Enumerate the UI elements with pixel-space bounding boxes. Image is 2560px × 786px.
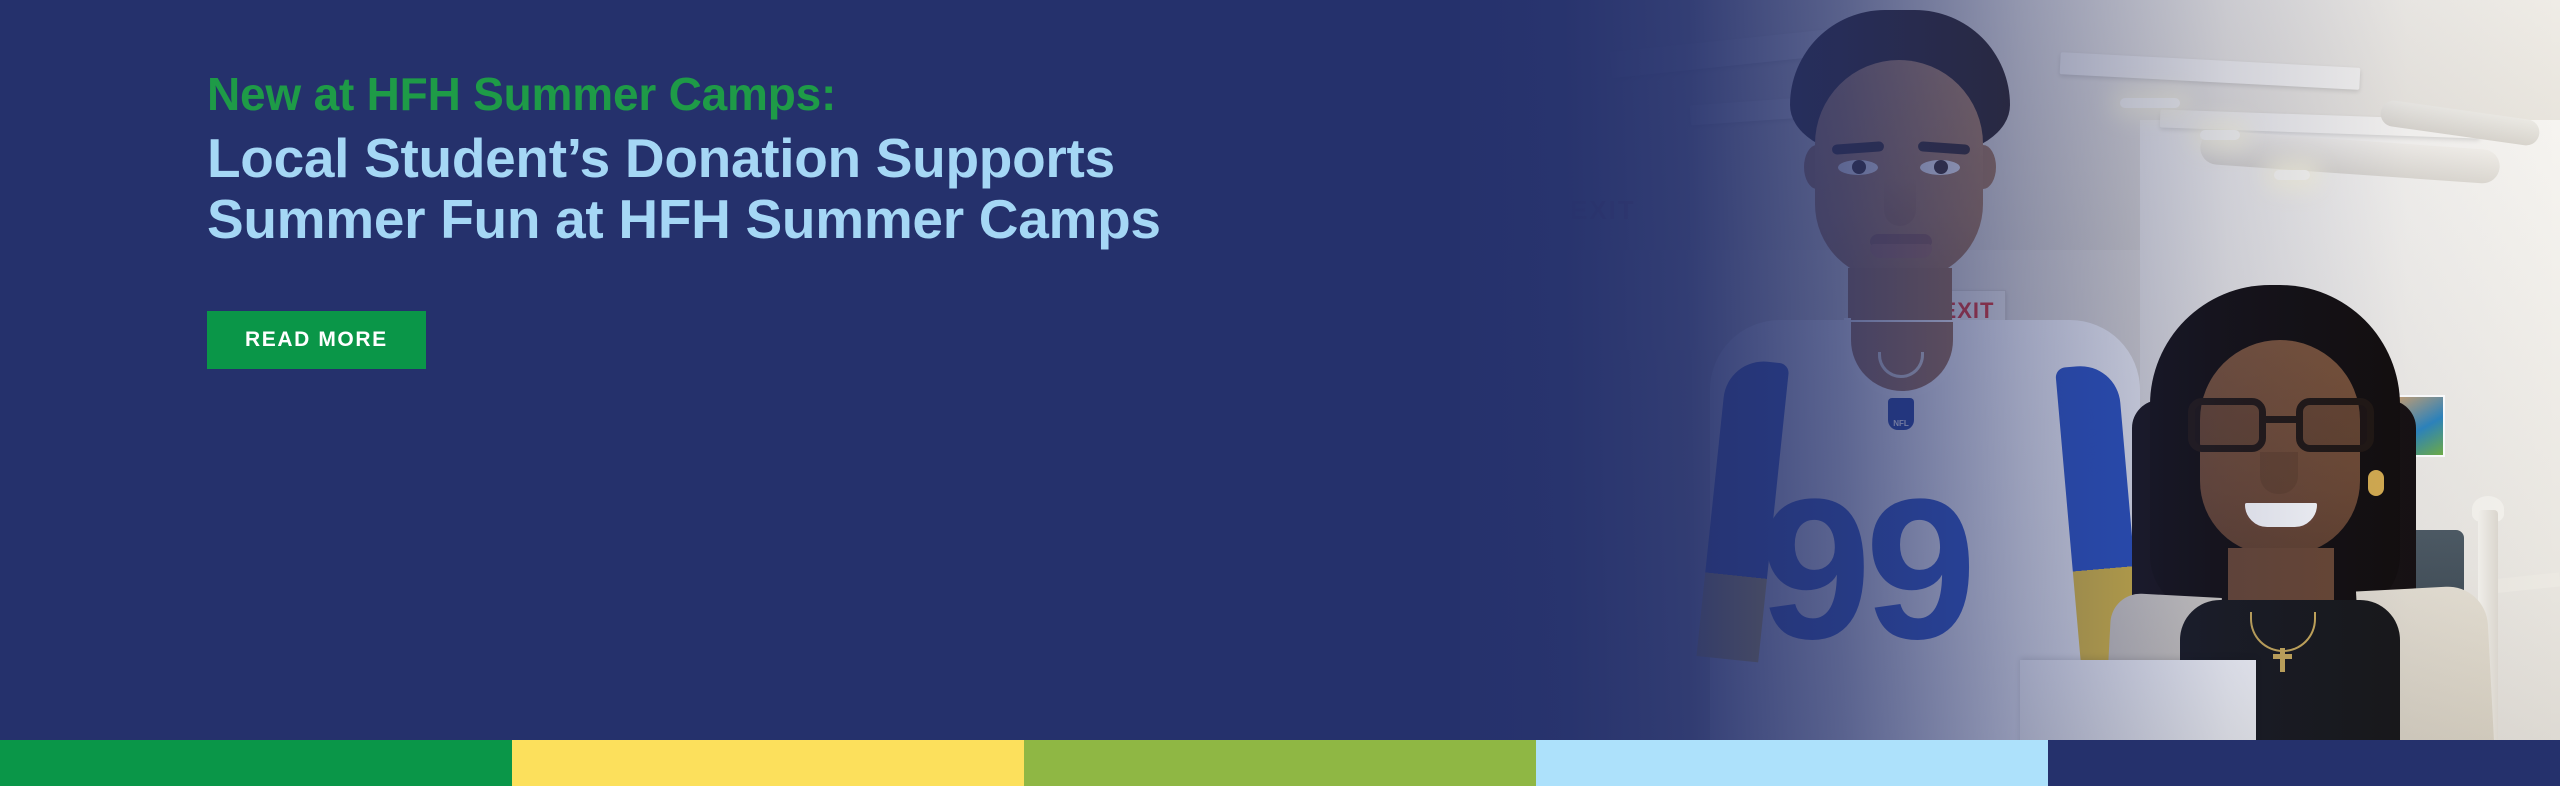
page-title: Local Student’s Donation Supports Summer… [207,128,1207,251]
band-yellow [512,740,1024,786]
band-green [0,740,512,786]
band-light-blue [1536,740,2048,786]
color-band-strip [0,740,2560,786]
read-more-button[interactable]: READ MORE [207,311,426,369]
hero-banner: EXIT EXIT [0,0,2560,786]
hero-content: New at HFH Summer Camps: Local Student’s… [207,70,1207,369]
headline-line-2: Summer Fun at HFH Summer Camps [207,189,1207,251]
headline-line-1: Local Student’s Donation Supports [207,128,1207,190]
eyebrow-text: New at HFH Summer Camps: [207,70,1207,120]
band-navy [2048,740,2560,786]
band-olive [1024,740,1536,786]
